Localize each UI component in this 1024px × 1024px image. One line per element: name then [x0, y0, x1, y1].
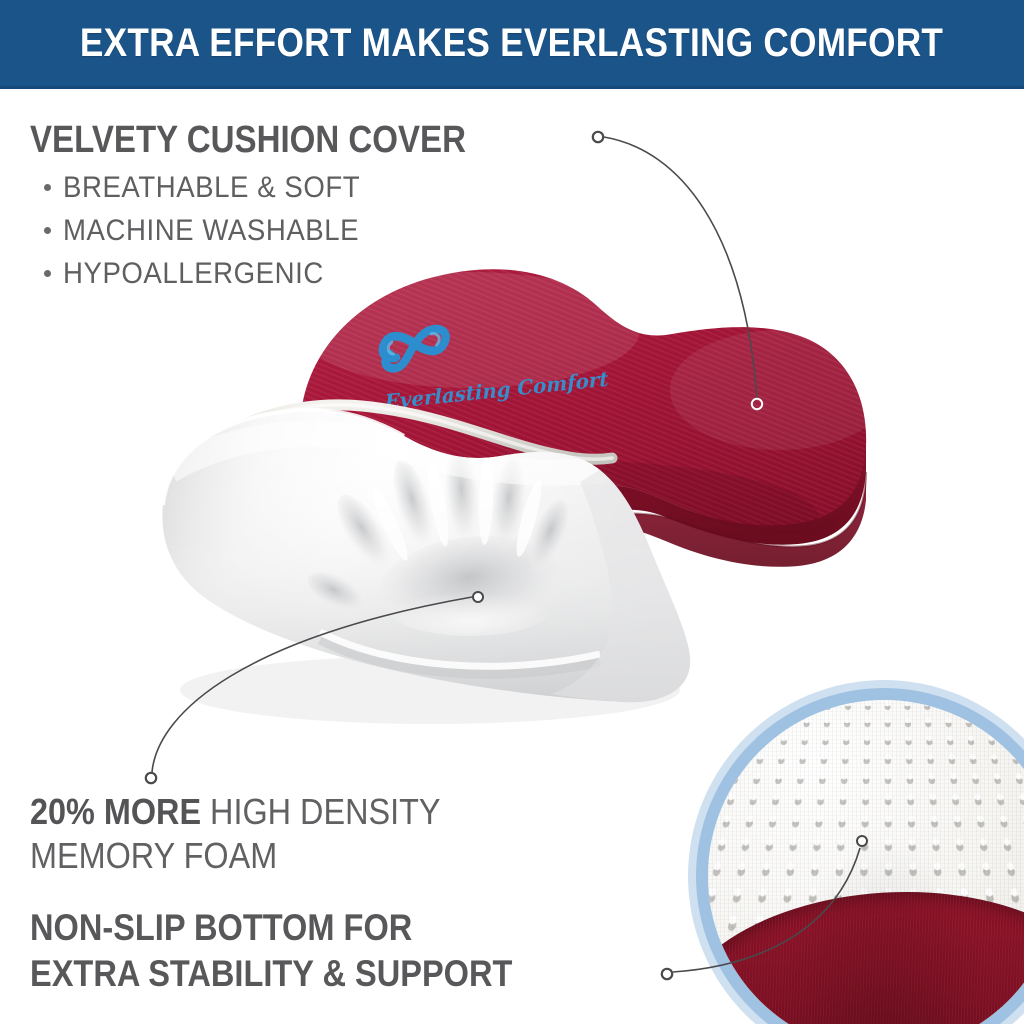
callout-foam-line-2: MEMORY FOAM — [30, 834, 570, 878]
callout-cover-bullet-3: HYPOALLERGENIC — [63, 257, 324, 291]
bullet-dot-icon — [44, 184, 51, 191]
leader-dot-cover-end — [752, 399, 762, 409]
leader-line-foam — [152, 597, 472, 772]
cushion-cover-side — [300, 430, 866, 567]
list-item: MACHINE WASHABLE — [44, 214, 630, 248]
brand-logo: Everlasting Comfort — [374, 293, 612, 438]
infinity-icon-gloss — [387, 332, 440, 355]
callout-foam-line-1: 20% MORE HIGH DENSITY — [30, 790, 570, 834]
inset-content — [708, 700, 1024, 1024]
leader-dot-foam-end — [473, 592, 483, 602]
callout-cover-bullet-2: MACHINE WASHABLE — [63, 214, 359, 248]
leader-dot-foam-start — [146, 773, 156, 783]
banner-title: EXTRA EFFORT MAKES EVERLASTING COMFORT — [80, 21, 943, 66]
cushion-cover-top — [280, 250, 900, 580]
magnified-inset-nonslip — [688, 680, 1024, 1024]
infinity-icon — [381, 326, 448, 371]
callout-nonslip-line-1: NON-SLIP BOTTOM FOR — [30, 905, 628, 951]
handprint-palm — [373, 526, 567, 644]
brand-wordmark: Everlasting Comfort — [383, 366, 609, 414]
callout-cover: VELVETY CUSHION COVER BREATHABLE & SOFT … — [30, 118, 630, 291]
callout-cover-bullet-1: BREATHABLE & SOFT — [63, 171, 360, 205]
header-banner: EXTRA EFFORT MAKES EVERLASTING COMFORT — [0, 0, 1024, 89]
bullet-dot-icon — [44, 227, 51, 234]
callout-foam-rest: HIGH DENSITY — [201, 791, 440, 832]
callout-foam-emphasis: 20% MORE — [30, 791, 201, 832]
handprint-fingers — [302, 446, 576, 620]
callout-nonslip-line-2: EXTRA STABILITY & SUPPORT — [30, 951, 628, 997]
infographic-canvas: EXTRA EFFORT MAKES EVERLASTING COMFORT — [0, 0, 1024, 1024]
list-item: BREATHABLE & SOFT — [44, 171, 630, 205]
bullet-dot-icon — [44, 270, 51, 277]
callout-nonslip: NON-SLIP BOTTOM FOR EXTRA STABILITY & SU… — [30, 905, 710, 997]
memory-foam-base — [150, 390, 710, 730]
callout-foam: 20% MORE HIGH DENSITY MEMORY FOAM — [30, 790, 630, 878]
list-item: HYPOALLERGENIC — [44, 257, 630, 291]
cover-zipper-piping — [196, 405, 612, 459]
callout-cover-heading: VELVETY CUSHION COVER — [30, 118, 552, 162]
